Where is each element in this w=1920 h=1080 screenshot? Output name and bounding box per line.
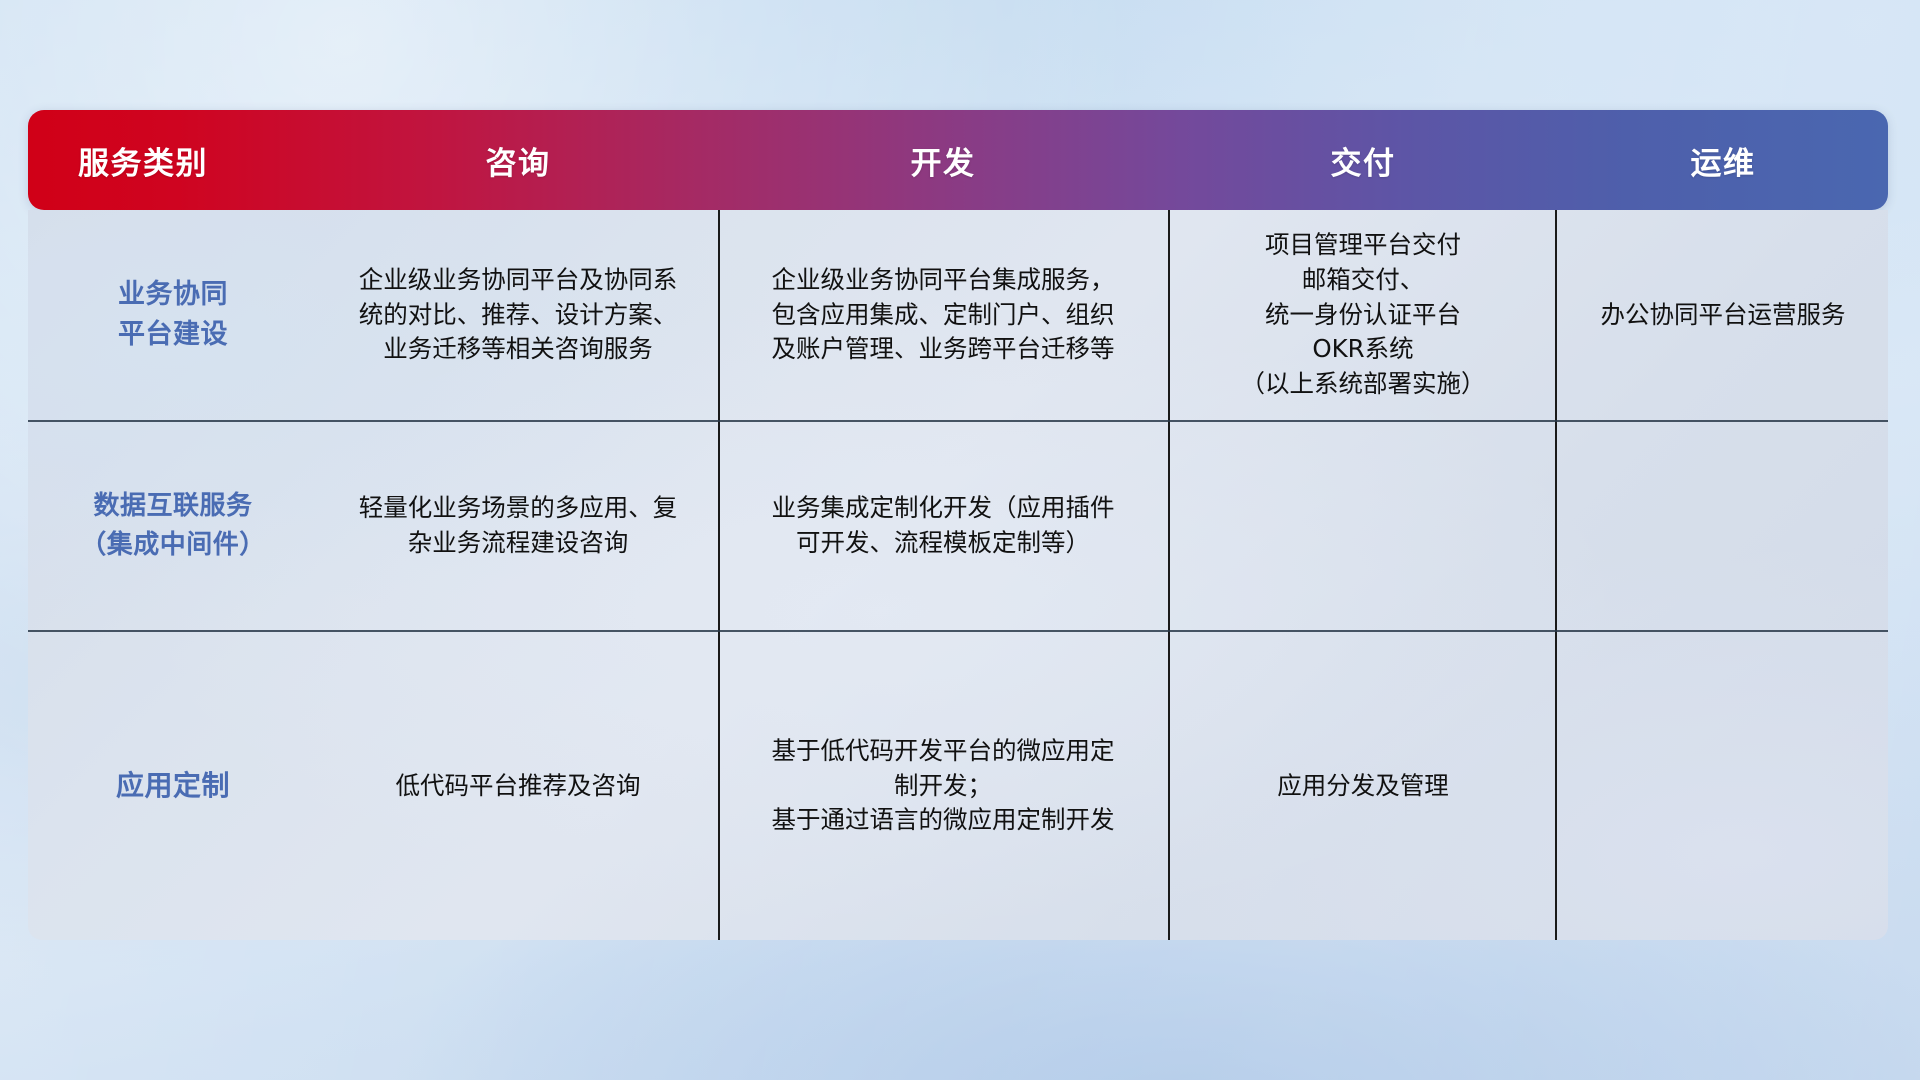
table-body: 业务协同 平台建设 企业级业务协同平台及协同系 统的对比、推荐、设计方案、 业务… bbox=[28, 210, 1888, 940]
table-row: 应用定制 低代码平台推荐及咨询 基于低代码开发平台的微应用定 制开发； 基于通过… bbox=[28, 632, 1888, 940]
column-header-development: 开发 bbox=[718, 110, 1168, 210]
cell-consulting: 低代码平台推荐及咨询 bbox=[318, 632, 718, 940]
row-label: 业务协同 平台建设 bbox=[118, 275, 228, 356]
service-matrix-table: 服务类别 咨询 开发 交付 运维 业务协同 平台建设 企业级业务协同平台及协同系… bbox=[28, 110, 1888, 940]
cell-development: 企业级业务协同平台集成服务， 包含应用集成、定制门户、组织 及账户管理、业务跨平… bbox=[718, 210, 1168, 420]
column-header-operations: 运维 bbox=[1558, 110, 1888, 210]
cell-operations bbox=[1558, 632, 1888, 940]
table-header-row: 服务类别 咨询 开发 交付 运维 bbox=[28, 110, 1888, 210]
table-row: 业务协同 平台建设 企业级业务协同平台及协同系 统的对比、推荐、设计方案、 业务… bbox=[28, 210, 1888, 420]
cell-delivery: 项目管理平台交付 邮箱交付、 统一身份认证平台 OKR系统 （以上系统部署实施） bbox=[1168, 210, 1558, 420]
cell-delivery: 应用分发及管理 bbox=[1168, 632, 1558, 940]
row-label-cell: 数据互联服务 （集成中间件） bbox=[28, 422, 318, 630]
cell-development: 业务集成定制化开发（应用插件 可开发、流程模板定制等） bbox=[718, 422, 1168, 630]
column-header-consulting: 咨询 bbox=[318, 110, 718, 210]
row-label-cell: 业务协同 平台建设 bbox=[28, 210, 318, 420]
row-label-cell: 应用定制 bbox=[28, 632, 318, 940]
column-header-delivery: 交付 bbox=[1168, 110, 1558, 210]
row-label: 应用定制 bbox=[116, 765, 230, 807]
row-label: 数据互联服务 （集成中间件） bbox=[80, 487, 266, 565]
cell-development: 基于低代码开发平台的微应用定 制开发； 基于通过语言的微应用定制开发 bbox=[718, 632, 1168, 940]
column-header-category: 服务类别 bbox=[28, 110, 318, 210]
table-row: 数据互联服务 （集成中间件） 轻量化业务场景的多应用、复 杂业务流程建设咨询 业… bbox=[28, 422, 1888, 630]
cell-consulting: 企业级业务协同平台及协同系 统的对比、推荐、设计方案、 业务迁移等相关咨询服务 bbox=[318, 210, 718, 420]
cell-delivery bbox=[1168, 422, 1558, 630]
cell-operations: 办公协同平台运营服务 bbox=[1558, 210, 1888, 420]
cell-consulting: 轻量化业务场景的多应用、复 杂业务流程建设咨询 bbox=[318, 422, 718, 630]
cell-operations bbox=[1558, 422, 1888, 630]
